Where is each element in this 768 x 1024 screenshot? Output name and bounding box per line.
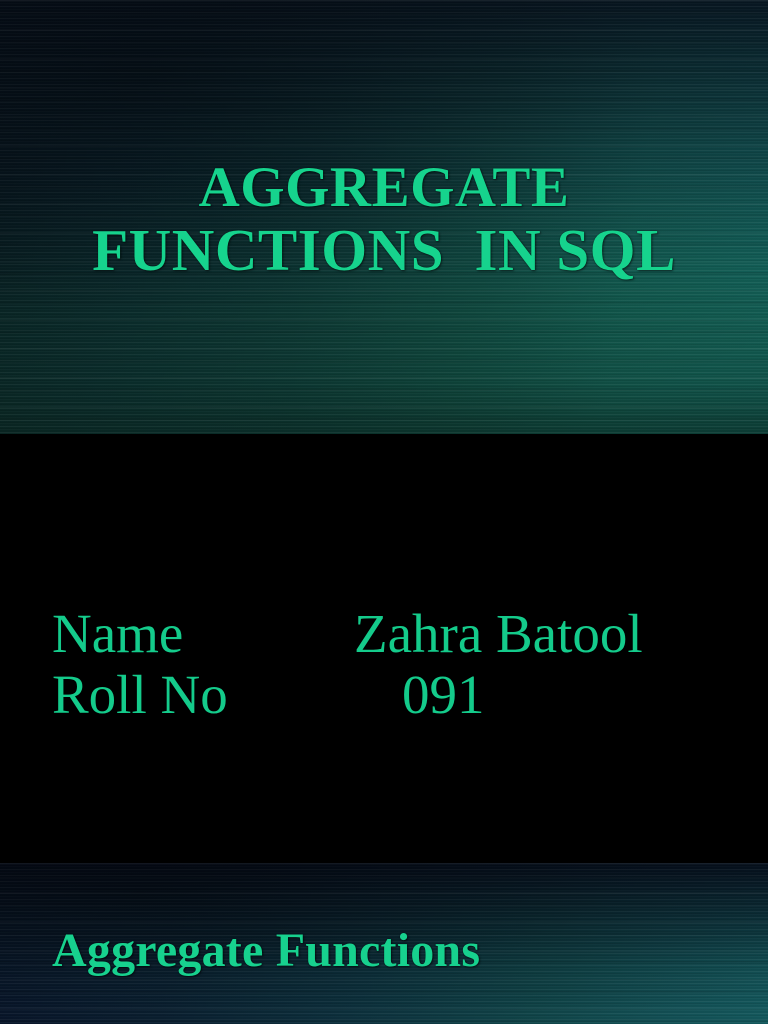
name-value: Zahra Batool (354, 606, 732, 661)
presentation-title: AGGREGATE FUNCTIONS IN SQL (0, 159, 768, 279)
presentation-title-line-2: FUNCTIONS IN SQL (0, 220, 768, 280)
roll-no-label: Roll No (52, 667, 354, 722)
roll-no-value: 091 (354, 667, 732, 722)
next-slide-preview[interactable]: Aggregate Functions (0, 863, 768, 1024)
table-row: Name Zahra Batool (52, 606, 732, 667)
slide-deck: AGGREGATE FUNCTIONS IN SQL Name Zahra Ba… (0, 0, 768, 1024)
author-info-table: Name Zahra Batool Roll No 091 (52, 606, 732, 728)
title-slide[interactable]: AGGREGATE FUNCTIONS IN SQL (0, 0, 768, 434)
presentation-title-line-1: AGGREGATE (0, 159, 768, 217)
table-row: Roll No 091 (52, 667, 732, 728)
author-info-slide[interactable]: Name Zahra Batool Roll No 091 (0, 434, 768, 863)
next-slide-heading: Aggregate Functions (52, 926, 480, 976)
name-label: Name (52, 606, 354, 661)
